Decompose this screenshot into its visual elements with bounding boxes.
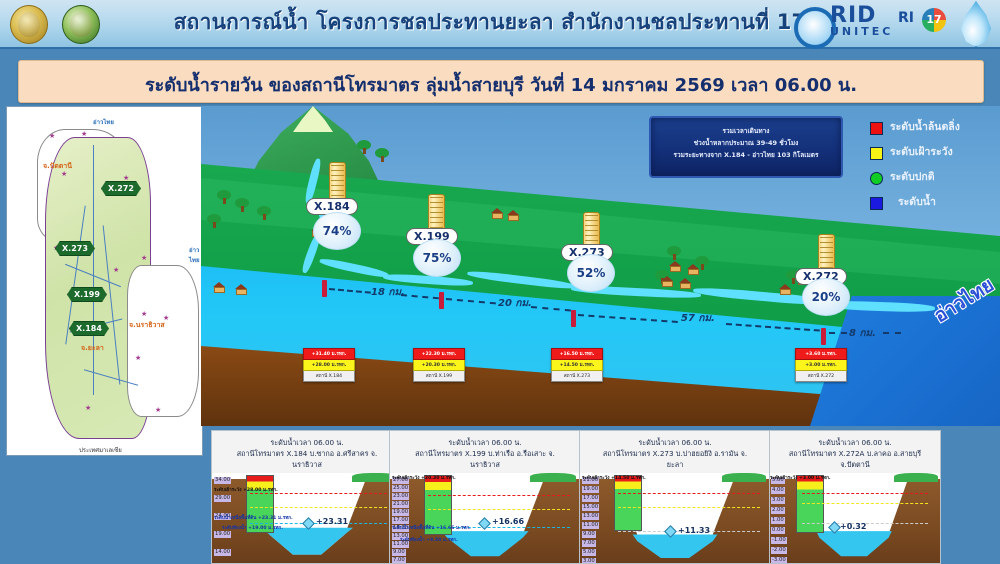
house-icon [235,284,248,295]
distance-marker [821,328,826,345]
map-label-pattani: จ.ปัตตานี [43,161,72,172]
distance-label-3: 57 กม. [681,311,715,326]
xs-canvas-x272a: +0.32 5.00 4.00 3.00 2.00 1.00 0.00 -1.0… [770,473,940,563]
overflow-level-x199: +22.30 ม.รทก. [413,348,465,360]
xs-tick: 2.00 [771,507,785,514]
xs-overflow-line-x273 [618,493,760,494]
house-icon [669,261,682,272]
station-name-x273: สถานี X.273 [551,371,603,382]
legend-swatch-warning-icon [870,147,883,160]
cross-section-x199[interactable]: ระดับน้ำเวลา 06.00 น. สถานีโทรมาตร X.199… [389,430,581,564]
xs-tick: 17.00 [582,495,599,502]
overflow-level-x184: +31.40 ม.รทก. [303,348,355,360]
legend-row-warning: ระดับเฝ้าระวัง [870,143,990,168]
distance-label-1: 18 กม. [371,285,405,300]
cross-section-x184[interactable]: ระดับน้ำเวลา 06.00 น. สถานีโทรมาตร X.184… [211,430,403,564]
xs-title-line2-x272a: สถานีโทรมาตร X.272A บ.ลาคอ อ.สายบุรี [770,448,940,459]
garuda-emblem-icon [10,5,48,44]
xs-tick: 29.00 [214,495,231,502]
xs-gauge-bar-x272a [796,475,824,533]
map-label-narathiwat: จ.นราธิวาส [129,320,165,331]
rid-logo-text: RID UNITEC [830,6,893,38]
royal-irrigation-emblem-icon [62,5,100,44]
xs-overflow-line-x199 [428,495,570,496]
xs-tick: 21.00 [392,501,409,508]
xs-warning-label-x273: ระดับเฝ้าระวัง +14.50 ม.รทก. [582,475,646,482]
map-star-icon: ★ [123,175,129,182]
xs-tick: 15.00 [582,504,599,511]
house-icon [687,264,700,275]
xs-tick: 9.00 [582,531,596,538]
xs-tick: 25.00 [392,485,409,492]
legend: ระดับน้ำล้นตลิ่ง ระดับเฝ้าระวัง ระดับปกต… [870,118,990,218]
xs-canvas-x199: +16.66 27.00 25.00 23.00 21.00 19.00 17.… [390,473,580,563]
warning-level-x272: +3.00 ม.รทก. [795,360,847,371]
cross-section-x273[interactable]: ระดับน้ำเวลา 06.00 น. สถานีโทรมาตร X.273… [579,430,771,564]
xs-tick: 23.00 [392,493,409,500]
xs-tick: 34.00 [214,477,231,484]
xs-title-line3-x184: นราธิวาส [212,459,402,470]
xs-tick: 9.00 [392,549,406,556]
xs-warning-line-x184 [250,507,392,508]
xs-canvas-x184: +23.31 34.00 29.00 24.00 19.00 14.00 ระด… [212,473,402,563]
xs-title-line2-x273: สถานีโทรมาตร X.273 บ.ปาฮยอยิงิ อ.รามัน จ… [580,448,770,459]
xs-title-line3-x272a: จ.ปัตตานี [770,459,940,470]
xs-bank-grass-x199 [530,473,576,482]
station-percent-x273: 52% [567,254,615,292]
map-star-icon: ★ [135,355,141,362]
rid-logo-main: RID [830,6,893,26]
overflow-level-x273: +16.50 ม.รทก. [551,348,603,360]
xs-tick: 5.00 [582,549,596,556]
xs-tick: 19.00 [214,531,231,538]
xs-warning-line-x199 [428,509,570,510]
xs-tick: -2.00 [771,547,787,554]
legend-row-normal: ระดับปกติ [870,168,990,193]
distance-marker [571,310,576,327]
distance-marker [439,292,444,309]
distance-marker [322,280,327,297]
xs-bedlevel-label-x199: ระดับท้องน้ำ +9.50 ม.รทก. [400,537,458,544]
map-star-icon: ★ [85,405,91,412]
station-name-x272: สถานี X.272 [795,371,847,382]
legend-swatch-waterlevel-icon [870,197,883,210]
map-station-badge-x199[interactable]: X.199 [67,287,107,302]
travel-time-summary-box: รวมเวลาเดินทาง ช่วงน้ำหลากประมาณ 39-49 ช… [649,116,843,178]
xs-tick: 3.00 [582,558,596,563]
house-icon [213,282,226,293]
basin-map-panel[interactable]: ★ ★ ★ ★ ★ ★ ★ ★ ★ ★ ★ ★ จ.ปัตตานี จ.นราธ… [6,106,203,456]
subtitle-bar: ระดับน้ำรายวัน ของสถานีโทรมาตร ลุ่มน้ำสา… [18,60,984,103]
xs-tick: 17.00 [392,517,409,524]
map-station-badge-x184[interactable]: X.184 [69,321,109,336]
map-star-icon: ★ [141,255,147,262]
xs-tick: 1.00 [771,517,785,524]
house-icon [491,208,504,219]
xs-water-value-x199: +16.66 [492,517,524,526]
summary-line-2: ช่วงน้ำหลากประมาณ 39-49 ชั่วโมง [651,137,841,149]
xs-title-line2-x199: สถานีโทรมาตร X.199 บ.ท่าเรือ อ.รือเสาะ จ… [390,448,580,459]
station-percent-x199: 75% [413,239,461,277]
rid-logo-sub: UNITEC [830,26,893,38]
map-star-icon: ★ [49,133,55,140]
legend-row-overflow: ระดับน้ำล้นตลิ่ง [870,118,990,143]
xs-warning-label-x199: ระดับเฝ้าระวัง +20.30 ม.รทก. [392,475,456,482]
summary-line-1: รวมเวลาเดินทาง [651,125,841,137]
cross-section-panels: ระดับน้ำเวลา 06.00 น. สถานีโทรมาตร X.184… [201,430,1000,562]
cross-section-x272a[interactable]: ระดับน้ำเวลา 06.00 น. สถานีโทรมาตร X.272… [769,430,941,564]
xs-tick: 0.00 [771,527,785,534]
distance-dashes [829,332,847,334]
map-label-gulf-right: อ่าวไทย [189,245,200,265]
xs-title-line1-x272a: ระดับน้ำเวลา 06.00 น. [770,437,940,448]
xs-tick: 4.00 [771,487,785,494]
distance-label-2: 20 กม. [498,296,532,311]
warning-level-x199: +20.30 ม.รทก. [413,360,465,371]
map-river [93,145,94,395]
xs-water-value-x273: +11.33 [678,526,710,535]
ri-label: RI [898,10,914,26]
threshold-box-x273: +16.50 ม.รทก. +14.50 ม.รทก. สถานี X.273 [551,348,603,382]
xs-tick: 19.00 [582,486,599,493]
xs-warning-line-x272a [802,503,928,504]
xs-warning-line-x273 [618,507,760,508]
xs-tick: 19.00 [392,509,409,516]
xs-tick: 14.00 [214,549,231,556]
app-header: สถานการณ์น้ำ โครงการชลประทานยะลา สำนักงา… [0,0,1000,49]
map-label-malaysia: ประเทศมาเลเซีย [79,445,122,455]
xs-title-line1-x184: ระดับน้ำเวลา 06.00 น. [212,437,402,448]
legend-label-normal: ระดับปกติ [890,168,935,185]
xs-tick: 3.00 [771,497,785,504]
xs-water-value-x184: +23.31 [316,517,348,526]
xs-tick: 13.00 [582,513,599,520]
xs-bank-grass-x272a [894,473,938,482]
xs-overflow-line-x272a [802,493,928,494]
map-canvas: ★ ★ ★ ★ ★ ★ ★ ★ ★ ★ ★ ★ จ.ปัตตานี จ.นราธ… [23,115,173,445]
station-name-x184: สถานี X.184 [303,371,355,382]
map-star-icon: ★ [61,171,67,178]
xs-tick: -1.00 [771,537,787,544]
map-star-icon: ★ [113,267,119,274]
map-label-gulf-top: อ่าวไทย [93,117,114,127]
xs-tick: -3.00 [771,557,787,563]
map-station-badge-x272[interactable]: X.272 [101,181,141,196]
station-name-x199: สถานี X.199 [413,371,465,382]
distance-label-4: 8 กม. [849,326,876,341]
xs-title-line1-x273: ระดับน้ำเวลา 06.00 น. [580,437,770,448]
overflow-level-x272: +3.60 ม.รทก. [795,348,847,360]
xs-warning-label-x184: ระดับเฝ้าระวัง +28.00 ม.รทก. [214,487,278,494]
legend-label-waterlevel: ระดับน้ำ [898,193,936,210]
xs-canvas-x273: +11.33 21.00 19.00 17.00 15.00 13.00 11.… [580,473,770,563]
house-icon [507,210,520,221]
warning-level-x184: +28.00 ม.รทก. [303,360,355,371]
xs-title-line2-x184: สถานีโทรมาตร X.184 บ.ซากอ อ.ศรีสาคร จ. [212,448,402,459]
house-icon [779,284,792,295]
warning-level-x273: +14.50 ม.รทก. [551,360,603,371]
xs-overflow-label-x184: ระดับน้ำล้นตลิ่ง +31.40 ม.รทก. [214,473,281,474]
office-number-badge: 17 [922,8,946,32]
xs-waterlevel-label-x184: ระดับน้ำเหนือพื้นที่ดิน +23.31 ม.รทก. [214,515,293,522]
station-percent-x272: 20% [802,278,850,316]
map-star-icon: ★ [81,131,87,138]
threshold-box-x184: +31.40 ม.รทก. +28.00 ม.รทก. สถานี X.184 [303,348,355,382]
map-station-badge-x273[interactable]: X.273 [55,241,95,256]
summary-line-3: รวมระยะทางจาก X.184 - อ่าวไทย 103 กิโลเม… [651,149,841,161]
subtitle-text: ระดับน้ำรายวัน ของสถานีโทรมาตร ลุ่มน้ำสา… [19,70,983,99]
station-percent-x184: 74% [313,212,361,250]
xs-tick: 11.00 [582,522,599,529]
rid-logo: RID UNITEC RI 17 [794,4,944,44]
xs-warning-label-x272a: ระดับเฝ้าระวัง +3.00 ม.รทก. [770,475,831,482]
xs-gauge-bar-x273 [614,475,642,531]
house-icon [679,278,692,289]
map-region-east [127,265,199,417]
legend-label-warning: ระดับเฝ้าระวัง [890,143,953,160]
water-drop-icon [958,1,994,47]
xs-waterlevel-label-x199: ระดับน้ำเหนือพื้นที่ดิน +16.66 ม.รทก. [392,525,471,532]
xs-title-line3-x199: นราธิวาส [390,459,580,470]
threshold-box-x199: +22.30 ม.รทก. +20.30 ม.รทก. สถานี X.199 [413,348,465,382]
distance-dashes [883,332,901,334]
map-star-icon: ★ [155,407,161,414]
xs-title-line3-x273: ยะลา [580,459,770,470]
xs-tick: 7.00 [582,540,596,547]
xs-tick: 7.00 [392,557,406,563]
page-title: สถานการณ์น้ำ โครงการชลประทานยะลา สำนักงา… [150,6,830,39]
house-icon [661,276,674,287]
xs-bedlevel-label-x184: ระดับท้องน้ำ +19.00 ม.รทก. [222,525,283,532]
legend-swatch-overflow-icon [870,122,883,135]
threshold-box-x272: +3.60 ม.รทก. +3.00 ม.รทก. สถานี X.272 [795,348,847,382]
xs-water-value-x272a: +0.32 [840,522,866,531]
legend-row-waterlevel: ระดับน้ำ [870,193,990,218]
river-profile-diagram: อ่าวไทย X.184 74% X.199 75% X.273 52% X.… [201,106,1000,426]
xs-title-line1-x199: ระดับน้ำเวลา 06.00 น. [390,437,580,448]
legend-label-overflow: ระดับน้ำล้นตลิ่ง [890,118,960,135]
map-star-icon: ★ [141,311,147,318]
legend-swatch-normal-icon [870,172,883,185]
map-label-yala: จ.ยะลา [81,343,104,354]
xs-bank-grass-x273 [722,473,766,482]
